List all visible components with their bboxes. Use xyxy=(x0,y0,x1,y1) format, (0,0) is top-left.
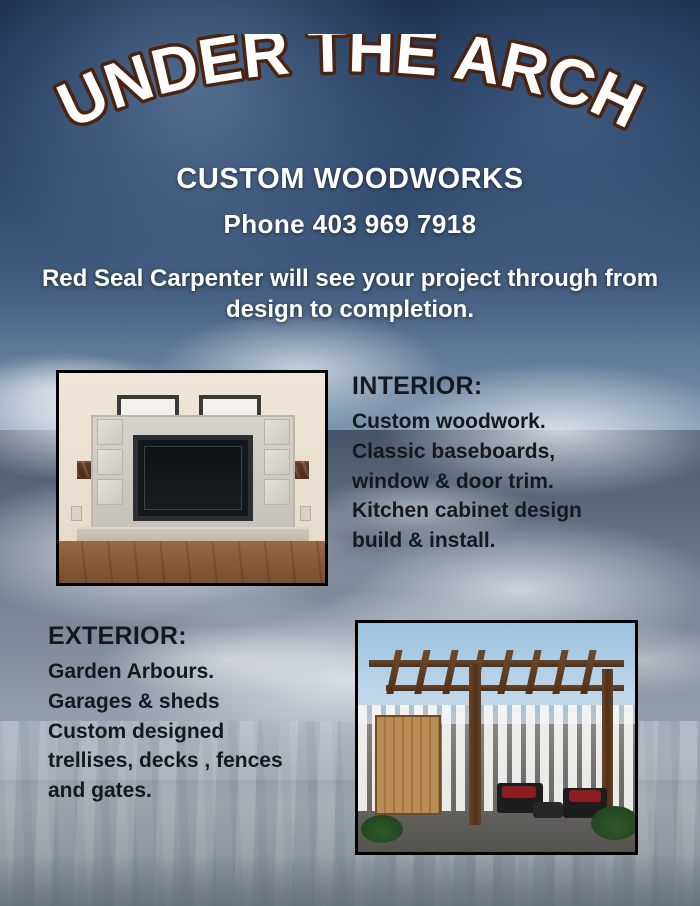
exterior-photo xyxy=(355,620,638,855)
exterior-photo-gate xyxy=(375,715,441,816)
exterior-photo-cushion-right xyxy=(569,790,601,802)
interior-line-2: Classic baseboards, xyxy=(352,437,652,467)
interior-text-block: INTERIOR: Custom woodwork. Classic baseb… xyxy=(352,372,652,556)
exterior-photo-cushion-left xyxy=(502,786,536,798)
interior-photo-tile xyxy=(97,419,123,445)
exterior-photo-shrub-right xyxy=(591,806,638,840)
interior-photo-tile xyxy=(97,479,123,505)
interior-line-3: window & door trim. xyxy=(352,467,652,497)
exterior-line-3: Custom designed xyxy=(48,717,348,747)
interior-line-4: Kitchen cabinet design xyxy=(352,496,652,526)
interior-photo xyxy=(56,370,328,586)
arched-title: UNDER THE ARCH xyxy=(0,34,700,164)
interior-photo-firebox xyxy=(133,435,253,521)
exterior-line-4: trellises, decks , fences xyxy=(48,746,348,776)
exterior-line-2: Garages & sheds xyxy=(48,687,348,717)
interior-photo-floor-grain xyxy=(59,541,325,583)
interior-line-1: Custom woodwork. xyxy=(352,407,652,437)
interior-photo-tile xyxy=(264,419,290,445)
interior-photo-outlet xyxy=(71,506,82,521)
interior-heading: INTERIOR: xyxy=(352,372,652,401)
exterior-photo-shrub-left xyxy=(361,815,403,843)
company-name: CUSTOM WOODWORKS xyxy=(0,163,700,196)
exterior-photo-pergola-post-center xyxy=(469,664,481,824)
exterior-line-1: Garden Arbours. xyxy=(48,657,348,687)
phone-number: Phone 403 969 7918 xyxy=(0,209,700,240)
interior-photo-tile xyxy=(97,449,123,475)
flyer-page: UNDER THE ARCH CUSTOM WOODWORKS Phone 40… xyxy=(0,0,700,906)
interior-line-5: build & install. xyxy=(352,526,652,556)
exterior-heading: EXTERIOR: xyxy=(48,622,348,651)
exterior-line-5: and gates. xyxy=(48,776,348,806)
arched-title-text: UNDER THE ARCH xyxy=(47,34,653,142)
interior-photo-outlet xyxy=(300,506,311,521)
interior-photo-firebox-glass xyxy=(144,446,242,510)
background-ground-shadow xyxy=(0,854,700,906)
exterior-text-block: EXTERIOR: Garden Arbours. Garages & shed… xyxy=(48,622,348,806)
interior-photo-tile xyxy=(264,449,290,475)
tagline: Red Seal Carpenter will see your project… xyxy=(0,264,700,325)
interior-photo-tile xyxy=(264,479,290,505)
exterior-photo-table xyxy=(533,802,563,818)
